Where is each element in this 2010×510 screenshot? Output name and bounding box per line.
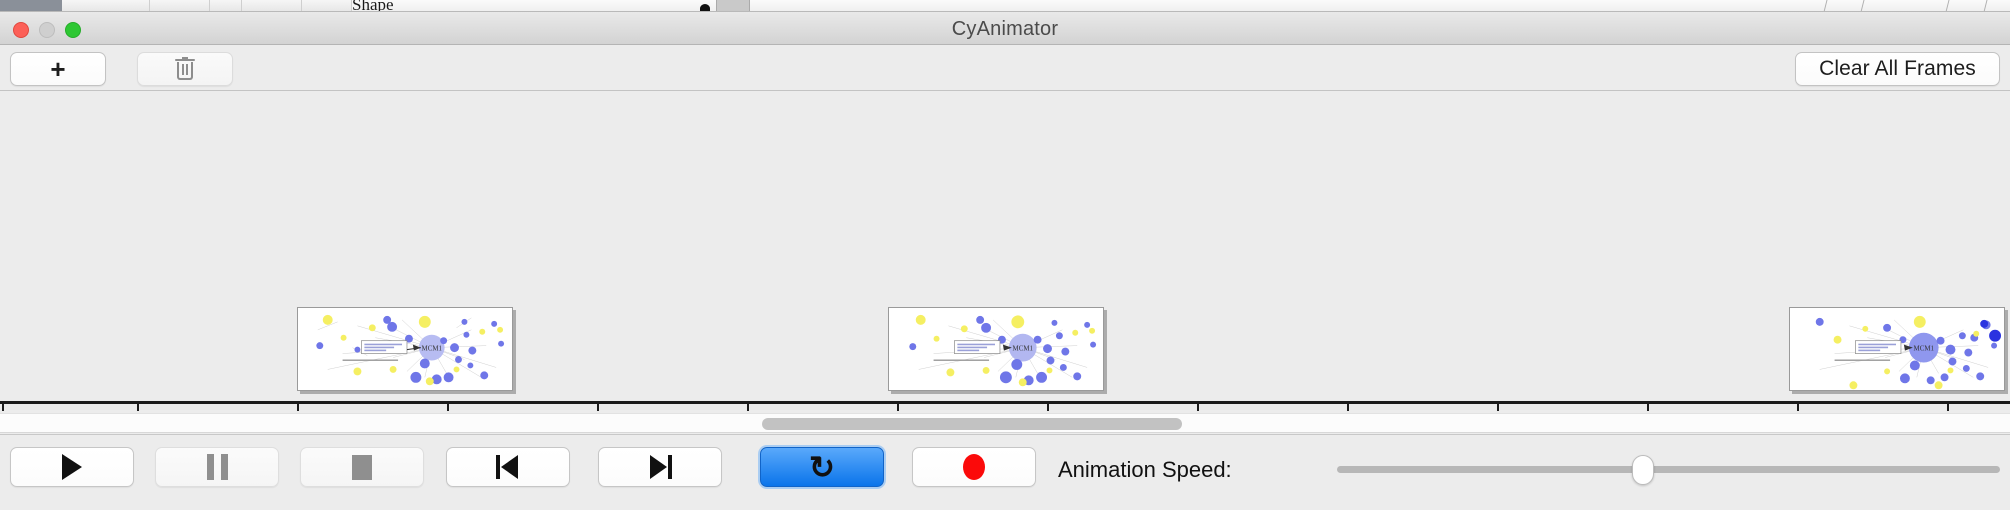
ruler-tick-major — [297, 404, 299, 411]
toolbar: + Clear All Frames — [0, 45, 2010, 91]
ruler-tick-major — [897, 404, 899, 411]
slider-thumb[interactable] — [1632, 455, 1654, 485]
stop-icon — [352, 455, 372, 480]
loop-icon: ↻ — [809, 452, 835, 483]
background-window-strip: Shape — [0, 0, 2010, 12]
svg-text:MCM1: MCM1 — [422, 346, 443, 353]
network-thumbnail-icon: MCM1 — [1790, 308, 2004, 391]
plus-icon: + — [50, 56, 65, 82]
skip-to-end-button[interactable] — [598, 447, 722, 487]
slider-track[interactable] — [1337, 466, 2000, 473]
scrollbar-thumb[interactable] — [762, 418, 1182, 430]
ruler-tick-minor — [1047, 404, 1049, 411]
clear-all-frames-button[interactable]: Clear All Frames — [1795, 52, 2000, 86]
pause-icon — [207, 454, 228, 480]
background-selected-tab — [0, 0, 62, 12]
ruler-tick-major — [597, 404, 599, 411]
background-tab-chip — [716, 0, 750, 12]
ruler-tick-minor — [1647, 404, 1649, 411]
ruler-tick-minor — [1947, 404, 1949, 411]
animation-speed-slider[interactable] — [1337, 466, 2010, 474]
background-tab — [150, 0, 210, 12]
network-thumbnail-icon: MCM1 — [889, 308, 1103, 391]
background-tab — [242, 0, 302, 12]
skip-back-icon — [495, 454, 521, 480]
stop-button[interactable] — [300, 447, 424, 487]
background-divider — [1946, 0, 1950, 12]
record-button[interactable] — [912, 447, 1036, 487]
background-window-label: Shape — [352, 0, 394, 12]
ruler-tick-major — [2, 404, 4, 411]
title-bar: CyAnimator — [0, 12, 2010, 45]
svg-text:MCM1: MCM1 — [1914, 346, 1935, 353]
pause-button[interactable] — [155, 447, 279, 487]
play-icon — [62, 454, 82, 480]
background-tab — [62, 0, 150, 12]
background-divider — [1824, 0, 1828, 12]
play-button[interactable] — [10, 447, 134, 487]
timeline-frame-thumbnail[interactable]: MCM1 — [888, 307, 1104, 391]
timeline-horizontal-scrollbar[interactable] — [0, 413, 2010, 433]
trash-icon — [175, 57, 195, 81]
timeline-panel[interactable]: MCM1 — [0, 91, 2010, 411]
playback-control-bar: ↻ Animation Speed: — [0, 434, 2010, 510]
background-tab — [210, 0, 242, 12]
ruler-tick-major — [1197, 404, 1199, 411]
background-divider — [1984, 0, 1988, 12]
record-icon — [963, 454, 985, 480]
timeline-frame-thumbnail[interactable]: MCM1 — [297, 307, 513, 391]
timeline-frame-thumbnail[interactable]: MCM1 — [1789, 307, 2005, 391]
add-frame-button[interactable]: + — [10, 52, 106, 86]
ruler-tick-major — [1497, 404, 1499, 411]
animation-speed-label: Animation Speed: — [1058, 457, 1232, 483]
skip-to-start-button[interactable] — [446, 447, 570, 487]
timeline-ruler-line — [0, 401, 2010, 404]
network-thumbnail-icon: MCM1 — [298, 308, 512, 391]
window-title: CyAnimator — [0, 18, 2010, 41]
background-divider — [1861, 0, 1865, 12]
ruler-tick-major — [1797, 404, 1799, 411]
cyanimator-window: Shape CyAnimator + Clear All Frames — [0, 0, 2010, 510]
ruler-tick-minor — [447, 404, 449, 411]
background-tab — [302, 0, 352, 12]
ruler-tick-minor — [137, 404, 139, 411]
skip-forward-icon — [647, 454, 673, 480]
ruler-tick-minor — [747, 404, 749, 411]
loop-button[interactable]: ↻ — [760, 447, 884, 487]
svg-text:MCM1: MCM1 — [1013, 346, 1034, 353]
delete-frame-button[interactable] — [137, 52, 233, 86]
background-cursor-mark — [700, 4, 710, 12]
ruler-tick-minor — [1347, 404, 1349, 411]
